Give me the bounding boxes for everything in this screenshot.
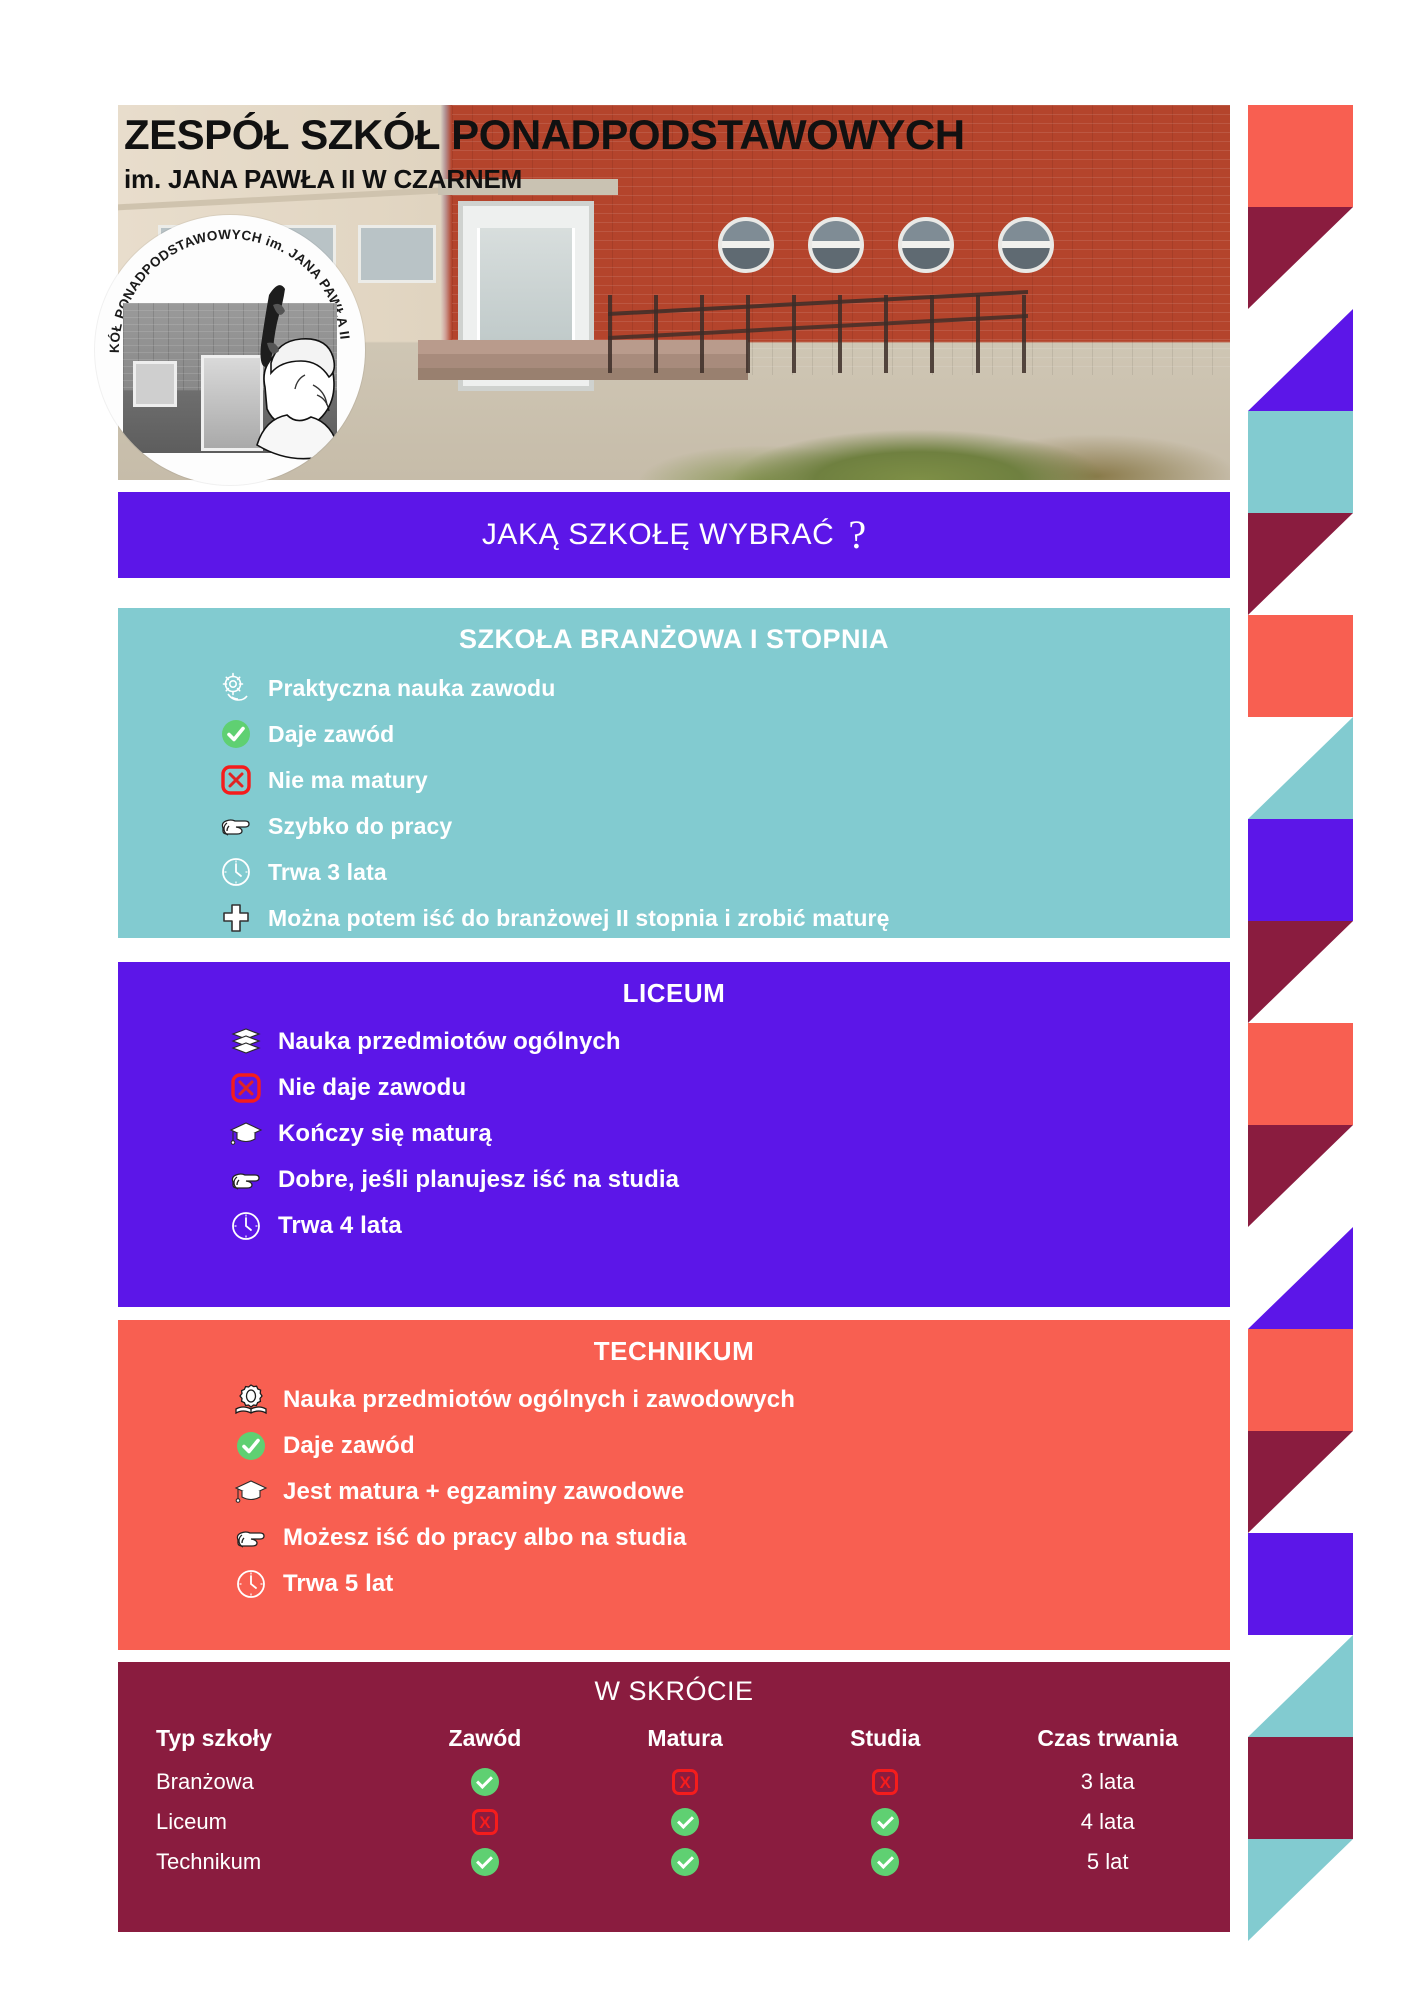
decor-tri-br [1248, 1635, 1353, 1737]
decorative-side-strip [1248, 105, 1353, 1935]
green-check-icon [871, 1848, 899, 1876]
decor-tri-tl [1248, 1431, 1353, 1533]
column-header-3: Studia [785, 1721, 985, 1762]
decor-tri-br [1248, 309, 1353, 411]
gear-hand-icon [218, 670, 254, 706]
green-check-icon [471, 1848, 499, 1876]
decor-tri-tl [1248, 207, 1353, 309]
decor-square [1248, 615, 1353, 717]
summary-title: W SKRÓCIE [118, 1676, 1230, 1707]
feature-row: Trwa 3 lata [118, 849, 1230, 895]
table-row: LiceumX4 lata [118, 1802, 1230, 1842]
card-rows: Nauka przedmiotów ogólnych i zawodowychD… [118, 1377, 1230, 1607]
cell-duration: 5 lat [985, 1842, 1230, 1882]
cell-school-type: Technikum [118, 1842, 385, 1882]
pointing-hand-icon [233, 1520, 269, 1556]
decor-tri-br [1248, 717, 1353, 819]
graduation-cap-icon [228, 1116, 264, 1152]
decor-square [1248, 1023, 1353, 1125]
green-check-icon [233, 1428, 269, 1464]
feature-label: Daje zawód [283, 1432, 415, 1460]
decor-tri-tl [1248, 921, 1353, 1023]
column-header-2: Matura [585, 1721, 785, 1762]
page-subtitle: im. JANA PAWŁA II W CZARNEM [124, 164, 1230, 195]
cell-zawod [385, 1842, 585, 1882]
feature-row: Trwa 5 lat [118, 1561, 1230, 1607]
feature-label: Dobre, jeśli planujesz iść na studia [278, 1166, 679, 1194]
round-window [808, 217, 864, 273]
cell-zawod: X [385, 1802, 585, 1842]
clock-icon [233, 1566, 269, 1602]
cell-school-type: Branżowa [118, 1762, 385, 1802]
question-mark-icon: ? [848, 515, 866, 555]
cell-zawod [385, 1762, 585, 1802]
plus-icon [218, 900, 254, 936]
feature-label: Możesz iść do pracy albo na studia [283, 1524, 687, 1552]
open-book-gear-icon [233, 1382, 269, 1418]
decor-square [1248, 1329, 1353, 1431]
feature-row: Szybko do pracy [118, 803, 1230, 849]
red-cross-icon: X [472, 1809, 498, 1835]
red-cross-icon: X [872, 1769, 898, 1795]
feature-label: Nie daje zawodu [278, 1074, 466, 1102]
graduation-cap-icon [233, 1474, 269, 1510]
red-cross-icon [228, 1070, 264, 1106]
card-liceum: LICEUM Nauka przedmiotów ogólnychNie daj… [118, 962, 1230, 1307]
table-row: Technikum5 lat [118, 1842, 1230, 1882]
pope-john-paul-portrait-icon [213, 267, 363, 485]
feature-row: Jest matura + egzaminy zawodowe [118, 1469, 1230, 1515]
header-titles: ZESPÓŁ SZKÓŁ PONADPODSTAWOWYCH im. JANA … [118, 105, 1230, 195]
cell-matura [585, 1802, 785, 1842]
clock-icon [228, 1208, 264, 1244]
green-check-icon [671, 1848, 699, 1876]
page-title: ZESPÓŁ SZKÓŁ PONADPODSTAWOWYCH [124, 111, 1230, 158]
seal-window [133, 361, 177, 407]
decor-tri-tl [1248, 1839, 1353, 1941]
feature-label: Nie ma matury [268, 767, 428, 794]
green-check-icon [871, 1808, 899, 1836]
feature-row: Daje zawód [118, 711, 1230, 757]
pointing-hand-icon [228, 1162, 264, 1198]
feature-row: Nie ma matury [118, 757, 1230, 803]
feature-label: Można potem iść do branżowej II stopnia … [268, 905, 889, 932]
card-rows: Nauka przedmiotów ogólnychNie daje zawod… [118, 1019, 1230, 1249]
cell-studia: X [785, 1762, 985, 1802]
feature-label: Praktyczna nauka zawodu [268, 675, 555, 702]
feature-label: Szybko do pracy [268, 813, 452, 840]
feature-row: Można potem iść do branżowej II stopnia … [118, 895, 1230, 941]
card-title: TECHNIKUM [118, 1336, 1230, 1367]
decor-square [1248, 1533, 1353, 1635]
green-check-icon [218, 716, 254, 752]
red-cross-icon [218, 762, 254, 798]
feature-label: Trwa 3 lata [268, 859, 387, 886]
feature-label: Daje zawód [268, 721, 394, 748]
decor-tri-tl [1248, 1125, 1353, 1227]
column-header-0: Typ szkoły [118, 1721, 385, 1762]
feature-row: Daje zawód [118, 1423, 1230, 1469]
feature-row: Trwa 4 lata [118, 1203, 1230, 1249]
feature-label: Trwa 5 lat [283, 1570, 393, 1598]
feature-row: Nauka przedmiotów ogólnych [118, 1019, 1230, 1065]
card-title: LICEUM [118, 978, 1230, 1009]
decor-square [1248, 819, 1353, 921]
cell-school-type: Liceum [118, 1802, 385, 1842]
cell-matura [585, 1842, 785, 1882]
round-window [998, 217, 1054, 273]
infographic-page: ZESPÓŁ SZKÓŁ PONADPODSTAWOWYCH im. JANA … [0, 0, 1414, 2000]
decor-square [1248, 105, 1353, 207]
feature-row: Kończy się maturą [118, 1111, 1230, 1157]
feature-label: Nauka przedmiotów ogólnych [278, 1028, 621, 1056]
choose-school-banner: JAKĄ SZKOŁĘ WYBRAĆ ? [118, 492, 1230, 578]
feature-row: Możesz iść do pracy albo na studia [118, 1515, 1230, 1561]
card-rows: Praktyczna nauka zawoduDaje zawódNie ma … [118, 665, 1230, 941]
feature-row: Nie daje zawodu [118, 1065, 1230, 1111]
pointing-hand-icon [218, 808, 254, 844]
cell-duration: 4 lata [985, 1802, 1230, 1842]
table-row: BranżowaXX3 lata [118, 1762, 1230, 1802]
cell-duration: 3 lata [985, 1762, 1230, 1802]
table-header-row: Typ szkołyZawódMaturaStudiaCzas trwania [118, 1721, 1230, 1762]
cell-matura: X [585, 1762, 785, 1802]
round-window [718, 217, 774, 273]
red-cross-icon: X [672, 1769, 698, 1795]
summary-table: Typ szkołyZawódMaturaStudiaCzas trwania … [118, 1721, 1230, 1882]
column-header-4: Czas trwania [985, 1721, 1230, 1762]
cell-studia [785, 1802, 985, 1842]
green-check-icon [471, 1768, 499, 1796]
green-check-icon [671, 1808, 699, 1836]
window-rect [358, 225, 436, 283]
ramp-railing [608, 295, 1028, 373]
clock-icon [218, 854, 254, 890]
feature-label: Nauka przedmiotów ogólnych i zawodowych [283, 1386, 795, 1414]
feature-label: Trwa 4 lata [278, 1212, 402, 1240]
card-technikum: TECHNIKUM Nauka przedmiotów ogólnych i z… [118, 1320, 1230, 1650]
card-branzowa: SZKOŁA BRANŻOWA I STOPNIA Praktyczna nau… [118, 608, 1230, 938]
banner-text: JAKĄ SZKOŁĘ WYBRAĆ [482, 518, 835, 552]
round-window [898, 217, 954, 273]
feature-row: Dobre, jeśli planujesz iść na studia [118, 1157, 1230, 1203]
column-header-1: Zawód [385, 1721, 585, 1762]
school-logo-seal: ZESPÓŁ SZKÓŁ PONADPODSTAWOWYCH im. JANA … [95, 215, 365, 485]
books-icon [228, 1024, 264, 1060]
decor-square [1248, 411, 1353, 513]
decor-square [1248, 1737, 1353, 1839]
card-title: SZKOŁA BRANŻOWA I STOPNIA [118, 624, 1230, 655]
feature-label: Jest matura + egzaminy zawodowe [283, 1478, 684, 1506]
feature-row: Praktyczna nauka zawodu [118, 665, 1230, 711]
feature-label: Kończy się maturą [278, 1120, 492, 1148]
decor-tri-tl [1248, 513, 1353, 615]
decor-tri-br [1248, 1227, 1353, 1329]
cell-studia [785, 1842, 985, 1882]
feature-row: Nauka przedmiotów ogólnych i zawodowych [118, 1377, 1230, 1423]
summary-table-section: W SKRÓCIE Typ szkołyZawódMaturaStudiaCza… [118, 1662, 1230, 1932]
